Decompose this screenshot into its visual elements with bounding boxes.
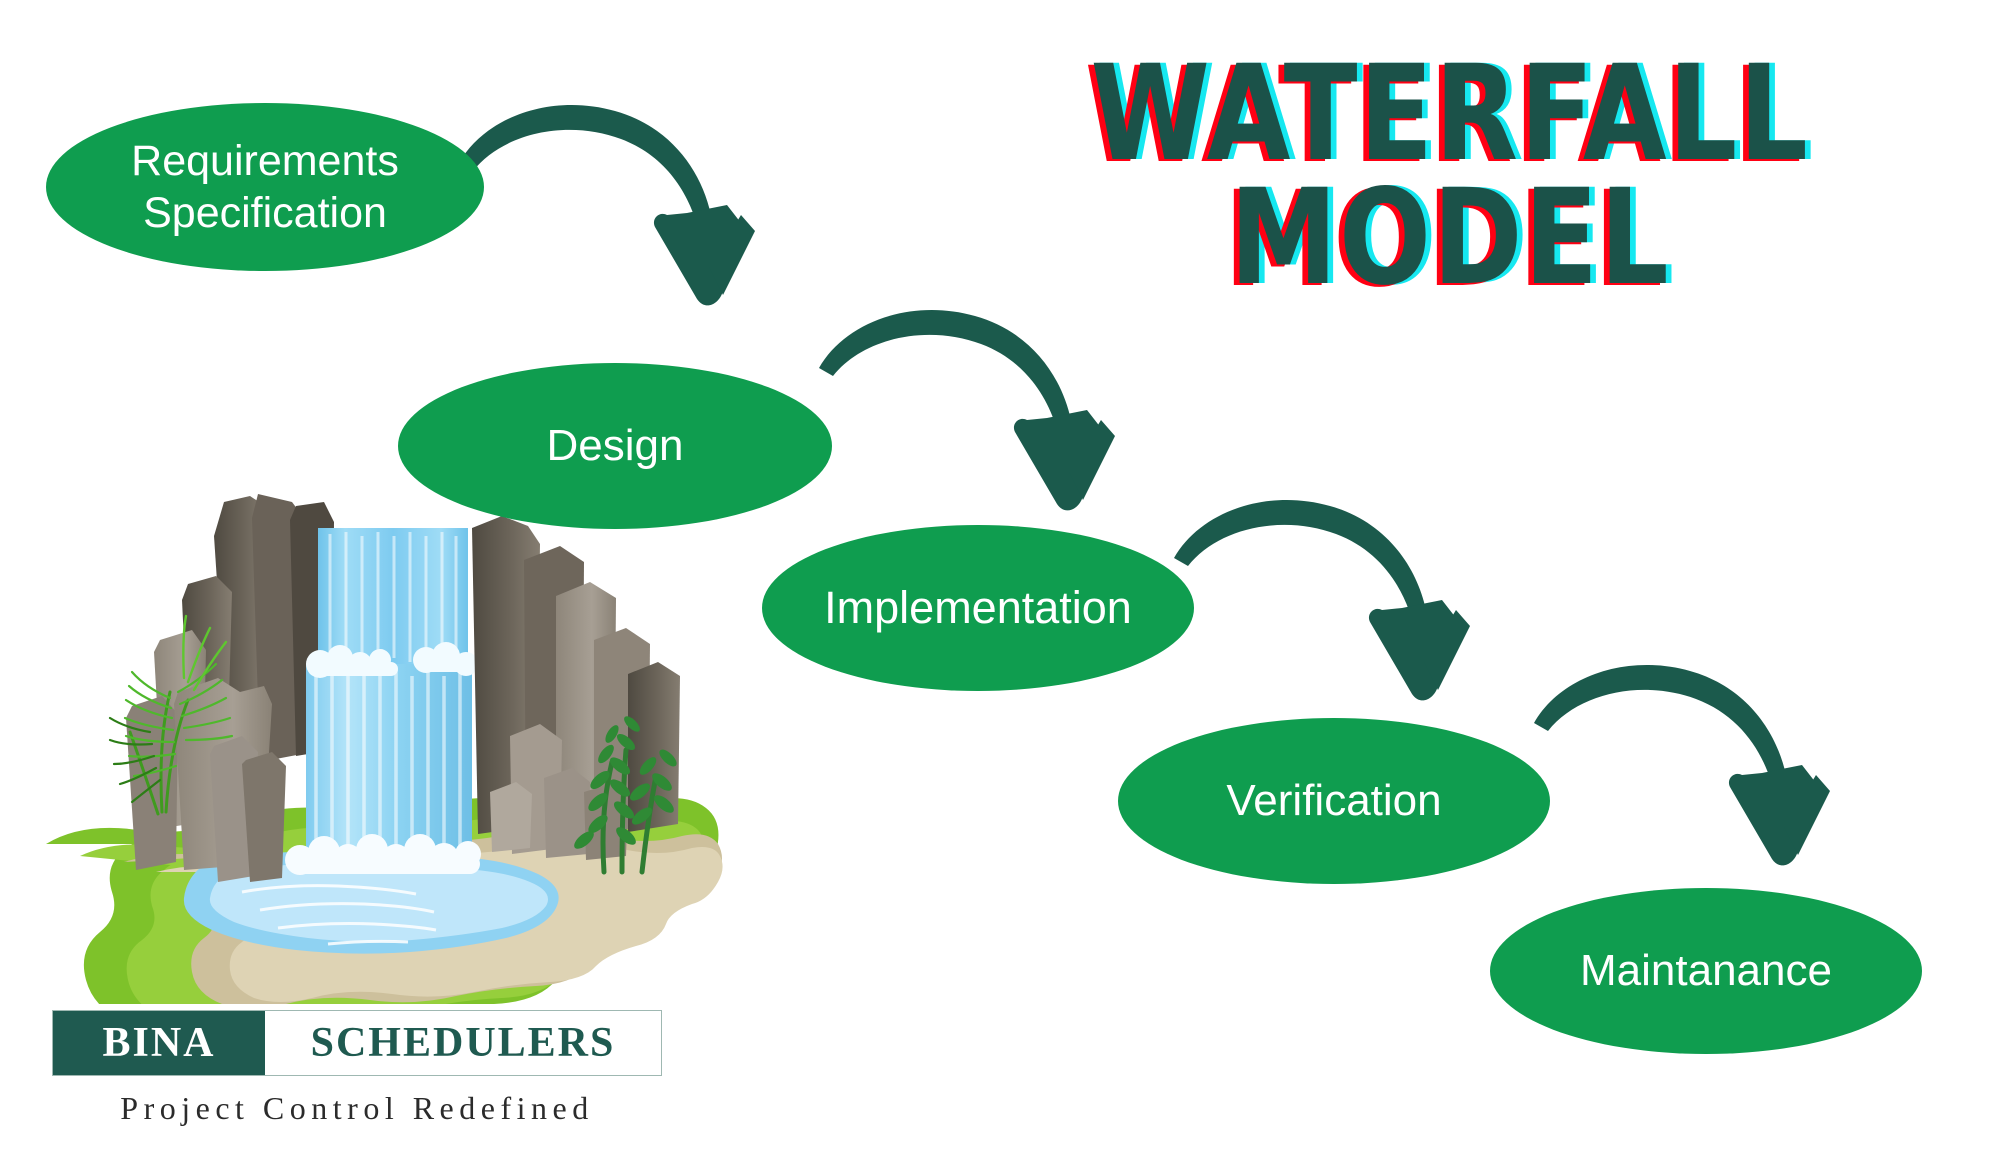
arrow-requirements-to-design [455, 95, 755, 325]
arrow-implementation-to-verification [1170, 490, 1470, 720]
node-requirements-label: Requirements Specification [131, 135, 399, 240]
node-verification[interactable]: Verification [1118, 718, 1550, 884]
rock [490, 782, 532, 852]
node-maintenance[interactable]: Maintanance [1490, 888, 1922, 1054]
waterfall-illustration [28, 492, 728, 1004]
logo-schedulers-text: SCHEDULERS [265, 1011, 661, 1075]
arrow-design-to-implementation [815, 300, 1115, 530]
logo-wordmark: BINA SCHEDULERS [52, 1010, 662, 1076]
title-line-waterfall: WATERFALL [1024, 52, 1877, 176]
logo-bina-text: BINA [53, 1011, 265, 1075]
node-design-label: Design [547, 419, 684, 473]
logo-tagline: Project Control Redefined [52, 1090, 662, 1127]
company-logo[interactable]: BINA SCHEDULERS Project Control Redefine… [52, 1010, 662, 1127]
arrow-verification-to-maintenance [1530, 655, 1830, 885]
node-implementation[interactable]: Implementation [762, 525, 1194, 691]
node-implementation-label: Implementation [824, 581, 1132, 636]
node-requirements-specification[interactable]: Requirements Specification [46, 103, 484, 271]
node-requirements-line2: Specification [143, 189, 387, 237]
node-verification-label: Verification [1226, 774, 1441, 828]
node-maintenance-label: Maintanance [1580, 944, 1832, 998]
node-design[interactable]: Design [398, 363, 832, 529]
page-title: WATERFALL MODEL [930, 52, 1970, 300]
diagram-canvas: WATERFALL MODEL [0, 0, 1998, 1167]
title-line-model: MODEL [1024, 176, 1877, 300]
node-requirements-line1: Requirements [131, 137, 399, 185]
